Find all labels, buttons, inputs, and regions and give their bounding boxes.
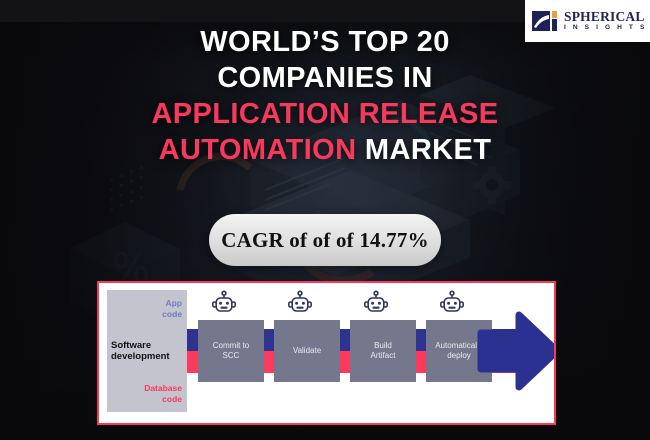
software-development-line-2: development [111, 351, 185, 362]
app-code-line-2: code [112, 309, 182, 320]
logo-subtitle: I N S I G H T S [564, 25, 647, 32]
spherical-logo-mark-icon [532, 9, 558, 33]
software-development-column: App code Software development Database c… [107, 290, 187, 412]
pipeline-diagram-panel: App code Software development Database c… [97, 281, 556, 425]
database-code-line-1: Database [112, 383, 182, 394]
right-arrow-icon [477, 309, 556, 393]
logo-name: SPHERICAL [564, 10, 647, 24]
brand-logo[interactable]: SPHERICAL I N S I G H T S [525, 0, 650, 42]
cagr-badge: CAGR of of of 14.77% [209, 214, 441, 266]
robot-icon [287, 290, 313, 316]
robot-icon [439, 290, 465, 316]
robot-icon [211, 290, 237, 316]
title-line-3: APPLICATION RELEASE [0, 96, 650, 132]
software-development-label: Software development [111, 340, 185, 362]
cagr-label: CAGR of of of 14.77% [221, 228, 429, 253]
title-line-4-rest: MARKET [356, 134, 491, 166]
database-code-label: Database code [112, 383, 182, 404]
title-line-2: COMPANIES IN [0, 60, 650, 96]
stage-label: Commit toSCC [207, 341, 255, 361]
database-code-line-2: code [112, 394, 182, 405]
software-development-line-1: Software [111, 340, 185, 351]
page-title: WORLD’S TOP 20 COMPANIES IN APPLICATION … [0, 24, 650, 168]
poster-canvas: % [0, 0, 650, 440]
title-line-4: AUTOMATION MARKET [0, 132, 650, 168]
stage-label: Validate [287, 346, 327, 356]
stage-box-validate[interactable]: Validate [274, 320, 340, 382]
title-line-4-accent: AUTOMATION [159, 134, 357, 166]
robot-icon [363, 290, 389, 316]
app-code-line-1: App [112, 298, 182, 309]
stage-box-build-artifact[interactable]: BuildArtifact [350, 320, 416, 382]
stage-box-commit-to-scc[interactable]: Commit toSCC [198, 320, 264, 382]
stage-label: BuildArtifact [365, 341, 402, 361]
app-code-label: App code [112, 298, 182, 319]
